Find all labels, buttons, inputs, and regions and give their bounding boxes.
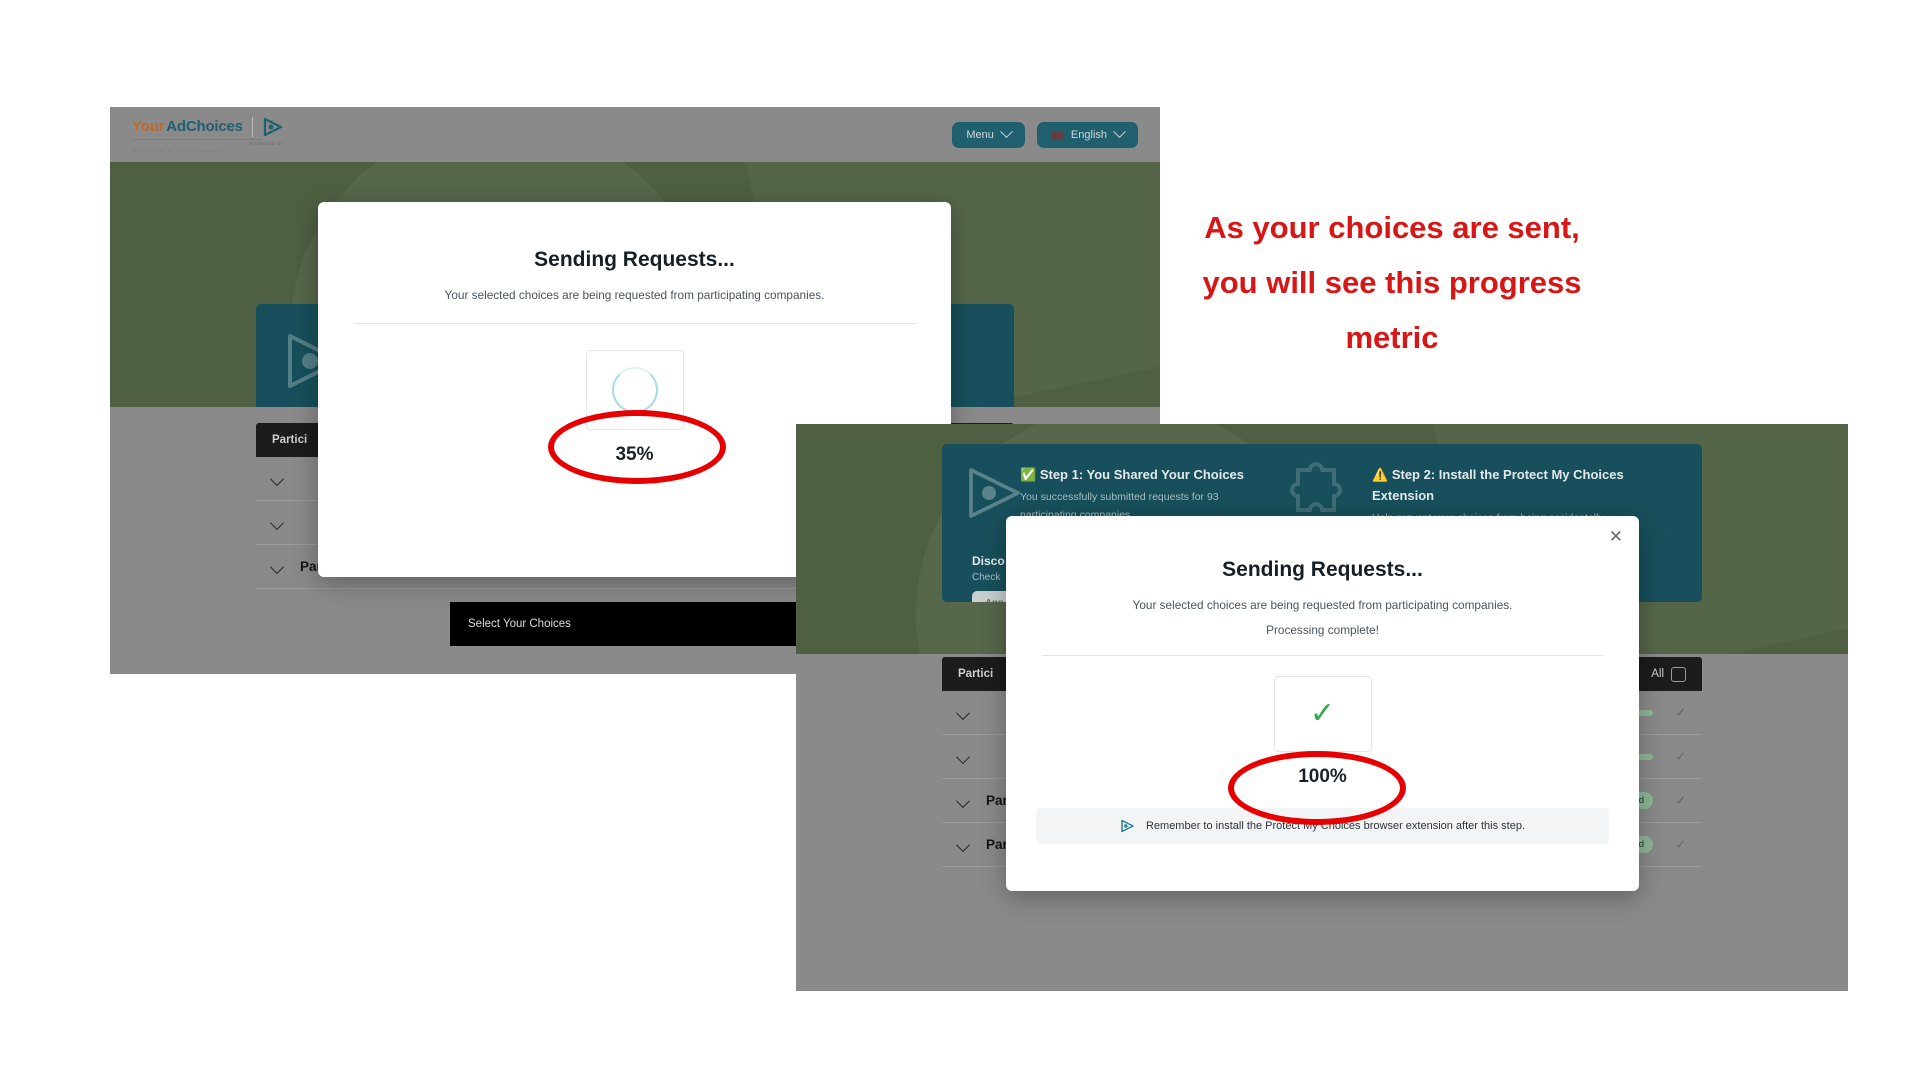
modal-subtitle: Your selected choices are being requeste…: [318, 288, 951, 302]
youradchoices-logo: Your AdChoices POWERED BY DIGITAL ADVERT…: [132, 117, 284, 153]
play-triangle-icon: [1120, 819, 1135, 833]
chevron-down-icon[interactable]: [956, 749, 970, 763]
play-triangle-icon: [262, 117, 284, 137]
language-button[interactable]: English: [1037, 122, 1138, 148]
step-1-heading: Step 1: You Shared Your Choices: [1040, 467, 1244, 482]
step-2-heading: Step 2: Install the Protect My Choices E…: [1372, 467, 1624, 503]
modal-divider: [354, 323, 915, 324]
extension-tip-text: Remember to install the Protect My Choic…: [1146, 820, 1525, 832]
close-icon[interactable]: ✕: [1609, 528, 1623, 545]
chevron-down-icon[interactable]: [956, 705, 970, 719]
menu-label: Menu: [966, 129, 994, 141]
flag-icon: [1051, 131, 1063, 139]
logo-text-adchoices: AdChoices: [166, 118, 243, 135]
progress-indicator-box: [586, 350, 684, 430]
table-header-label: Partici: [958, 668, 993, 680]
check-icon: ✓: [1675, 749, 1686, 765]
logo-rule: [132, 139, 262, 141]
extension-tip-bar: Remember to install the Protect My Choic…: [1036, 808, 1609, 844]
select-all-control[interactable]: All: [1651, 667, 1686, 682]
chevron-down-icon[interactable]: [270, 559, 284, 573]
modal-title: Sending Requests...: [318, 202, 951, 272]
annotation-text: As your choices are sent, you will see t…: [1182, 200, 1602, 365]
language-label: English: [1071, 129, 1107, 141]
progress-indicator-box: ✓: [1274, 676, 1372, 752]
green-check-icon: ✅: [1020, 467, 1036, 482]
check-icon: ✓: [1675, 793, 1686, 809]
chevron-down-icon[interactable]: [270, 471, 284, 485]
modal-subtitle: Your selected choices are being requeste…: [1006, 598, 1639, 612]
menu-button[interactable]: Menu: [952, 122, 1025, 148]
logo-tagline-powered-by: POWERED BY: [249, 141, 283, 146]
progress-percent: 100%: [1006, 766, 1639, 788]
select-all-label: All: [1651, 668, 1664, 680]
select-all-checkbox[interactable]: [1671, 667, 1686, 682]
sending-requests-modal-2: ✕ Sending Requests... Your selected choi…: [1006, 516, 1639, 891]
chevron-down-icon[interactable]: [270, 515, 284, 529]
logo-text-your: Your: [132, 118, 164, 135]
logo-tagline-daa: DIGITAL ADVERTISING ALLIANCE: [132, 148, 224, 153]
chevron-down-icon[interactable]: [956, 837, 970, 851]
warning-triangle-icon: ⚠️: [1372, 467, 1388, 482]
modal-status-text: Processing complete!: [1006, 623, 1639, 637]
green-check-icon: ✓: [1310, 699, 1335, 729]
modal-divider: [1042, 655, 1603, 656]
check-icon: ✓: [1675, 837, 1686, 853]
table-header-label: Partici: [272, 434, 307, 446]
site-header-1: Your AdChoices POWERED BY DIGITAL ADVERT…: [110, 107, 1160, 162]
modal-title: Sending Requests...: [1006, 516, 1639, 582]
check-icon: ✓: [1675, 705, 1686, 721]
chevron-down-icon[interactable]: [956, 793, 970, 807]
logo-divider: [252, 117, 253, 137]
chevron-down-icon: [1000, 125, 1013, 138]
canvas: Web Using thi o the inst Partici: [0, 0, 1920, 1080]
loading-spinner-icon: [612, 367, 658, 413]
chevron-down-icon: [1113, 125, 1126, 138]
